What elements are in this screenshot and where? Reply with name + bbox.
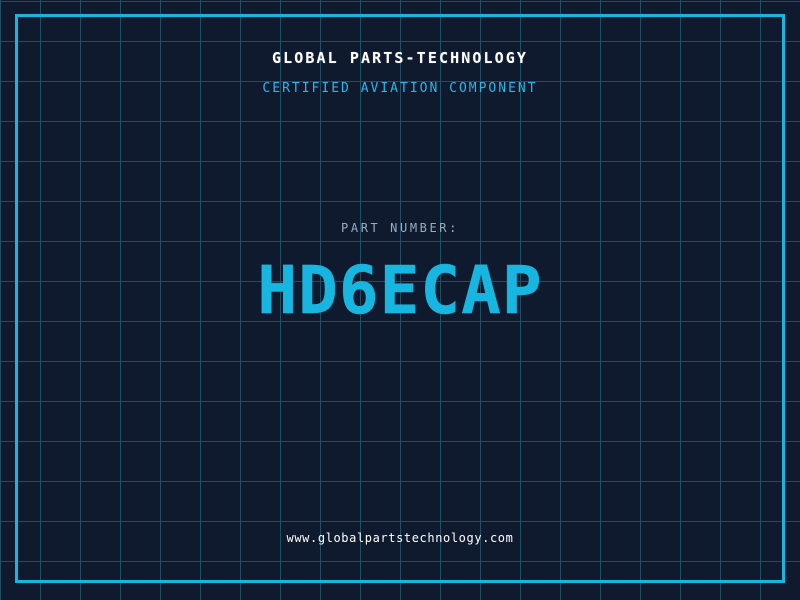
certification-subtitle: CERTIFIED AVIATION COMPONENT <box>0 81 800 96</box>
company-title: GLOBAL PARTS-TECHNOLOGY <box>0 49 800 67</box>
website-url: www.globalpartstechnology.com <box>0 531 800 545</box>
part-number-value: HD6ECAP <box>0 258 800 324</box>
part-number-label: PART NUMBER: <box>0 221 800 235</box>
part-number-card: GLOBAL PARTS-TECHNOLOGY CERTIFIED AVIATI… <box>0 0 800 600</box>
